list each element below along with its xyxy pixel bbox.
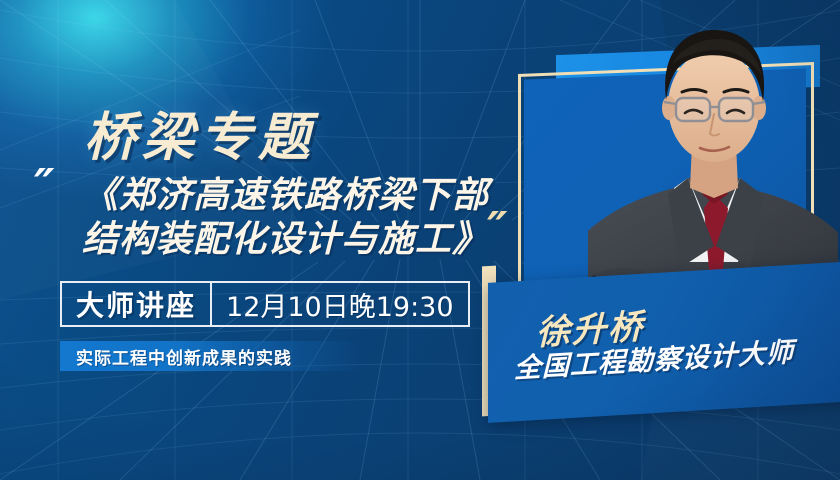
lecture-tagline-text: 实际工程中创新成果的实践 bbox=[76, 344, 292, 369]
speaker-nameplate bbox=[488, 261, 840, 423]
speaker-photo-composition bbox=[470, 0, 840, 480]
lecture-info-bar: 大师讲座 12月10日晚19:30 bbox=[60, 281, 470, 327]
lecture-poster: 徐升桥 全国工程勘察设计大师 桥梁专题 ″ ″ 《郑济高速铁路桥梁下部 结构装配… bbox=[0, 0, 840, 480]
lecture-book-title: 《郑济高速铁路桥梁下部 结构装配化设计与施工》 bbox=[82, 174, 502, 262]
lecture-book-title-line2: 结构装配化设计与施工》 bbox=[82, 218, 502, 262]
page-title: 桥梁专题 bbox=[84, 95, 316, 170]
lecture-book-title-line1: 《郑济高速铁路桥梁下部 bbox=[82, 174, 502, 218]
lecture-datetime: 12月10日晚19:30 bbox=[212, 283, 468, 325]
lecture-tagline-bar: 实际工程中创新成果的实践 bbox=[60, 341, 360, 371]
quote-open-icon: ″ bbox=[34, 163, 51, 209]
lecture-type-label: 大师讲座 bbox=[62, 283, 210, 325]
